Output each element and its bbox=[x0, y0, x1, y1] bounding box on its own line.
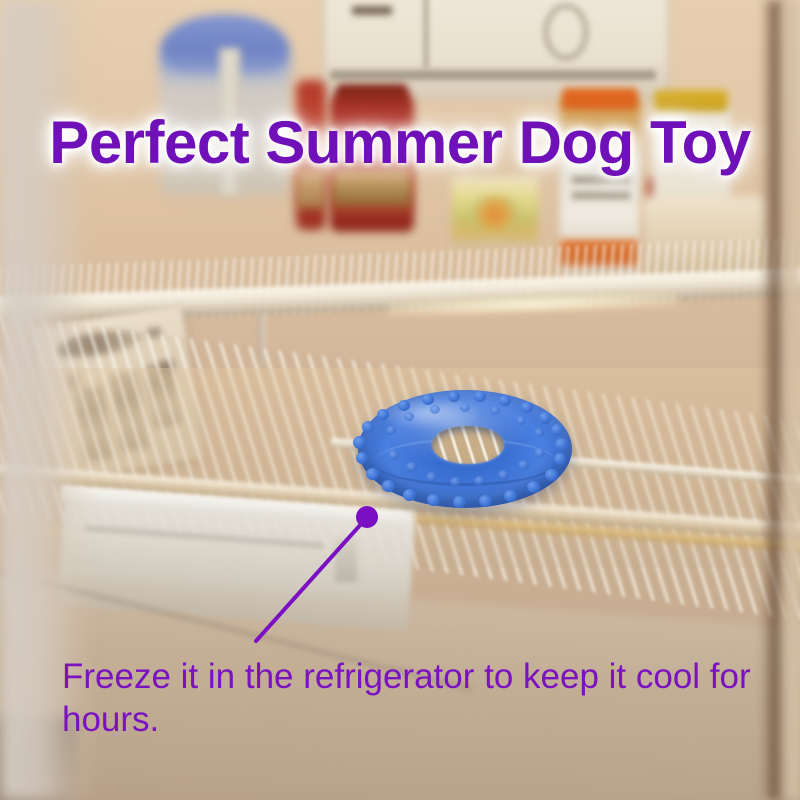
toy-nub bbox=[453, 496, 466, 508]
toy-nub bbox=[377, 409, 389, 420]
blue-ring-dog-toy bbox=[358, 390, 572, 508]
peanut-butter-jar-lid bbox=[562, 88, 638, 110]
toy-nub bbox=[366, 468, 379, 480]
toy-nub bbox=[521, 402, 533, 413]
toy-nub bbox=[398, 400, 410, 411]
control-panel-marking bbox=[352, 6, 392, 15]
toy-surface-nub bbox=[516, 416, 526, 425]
toy-nub bbox=[474, 391, 486, 402]
toy-nub bbox=[353, 436, 366, 449]
toy-surface-nub bbox=[518, 460, 529, 470]
toy-surface-nub bbox=[498, 470, 509, 480]
toy-nub bbox=[555, 438, 568, 451]
toy-nub bbox=[356, 452, 368, 464]
toy-nub bbox=[554, 453, 566, 465]
toy-surface-nub bbox=[474, 476, 485, 486]
toy-surface-nub bbox=[430, 405, 440, 414]
toy-nub bbox=[427, 494, 440, 506]
control-panel-dial bbox=[544, 4, 588, 60]
toy-nub bbox=[499, 395, 511, 406]
toy-nub bbox=[403, 489, 416, 501]
toy-nub bbox=[448, 391, 460, 402]
toy-surface-nub bbox=[386, 426, 396, 435]
toy-surface-nub bbox=[406, 462, 417, 472]
toy-surface-nub bbox=[388, 450, 399, 460]
toy-nub bbox=[545, 469, 558, 481]
control-panel-divider bbox=[424, 0, 428, 68]
toy-nub bbox=[479, 495, 492, 507]
peanut-butter-jar-label bbox=[572, 176, 630, 218]
yellow-tub-label-art bbox=[468, 196, 522, 230]
toy-surface-nub bbox=[534, 428, 544, 437]
toy-center-hole bbox=[432, 426, 504, 464]
toy-surface-nub bbox=[450, 477, 461, 487]
toy-nub bbox=[504, 490, 517, 502]
toy-surface-nub bbox=[404, 412, 414, 421]
shelf-leg bbox=[335, 538, 357, 582]
control-panel-vent bbox=[330, 70, 656, 80]
toy-surface-nub bbox=[534, 448, 545, 458]
toy-nub bbox=[362, 421, 374, 433]
red-sauce-jar-lid bbox=[336, 84, 408, 104]
toy-nub bbox=[422, 394, 434, 405]
toy-surface-nub bbox=[460, 403, 470, 412]
toy-nub bbox=[539, 412, 551, 424]
product-poster: Perfect Summer Dog Toy Freeze it in the … bbox=[0, 0, 800, 800]
toy-nub bbox=[382, 480, 395, 492]
toy-nub bbox=[527, 481, 540, 493]
page-title: Perfect Summer Dog Toy bbox=[0, 108, 800, 177]
toy-surface-nub bbox=[426, 472, 437, 482]
callout-caption: Freeze it in the refrigerator to keep it… bbox=[62, 655, 752, 741]
toy-surface-nub bbox=[490, 406, 500, 415]
toy-nub bbox=[551, 424, 563, 436]
